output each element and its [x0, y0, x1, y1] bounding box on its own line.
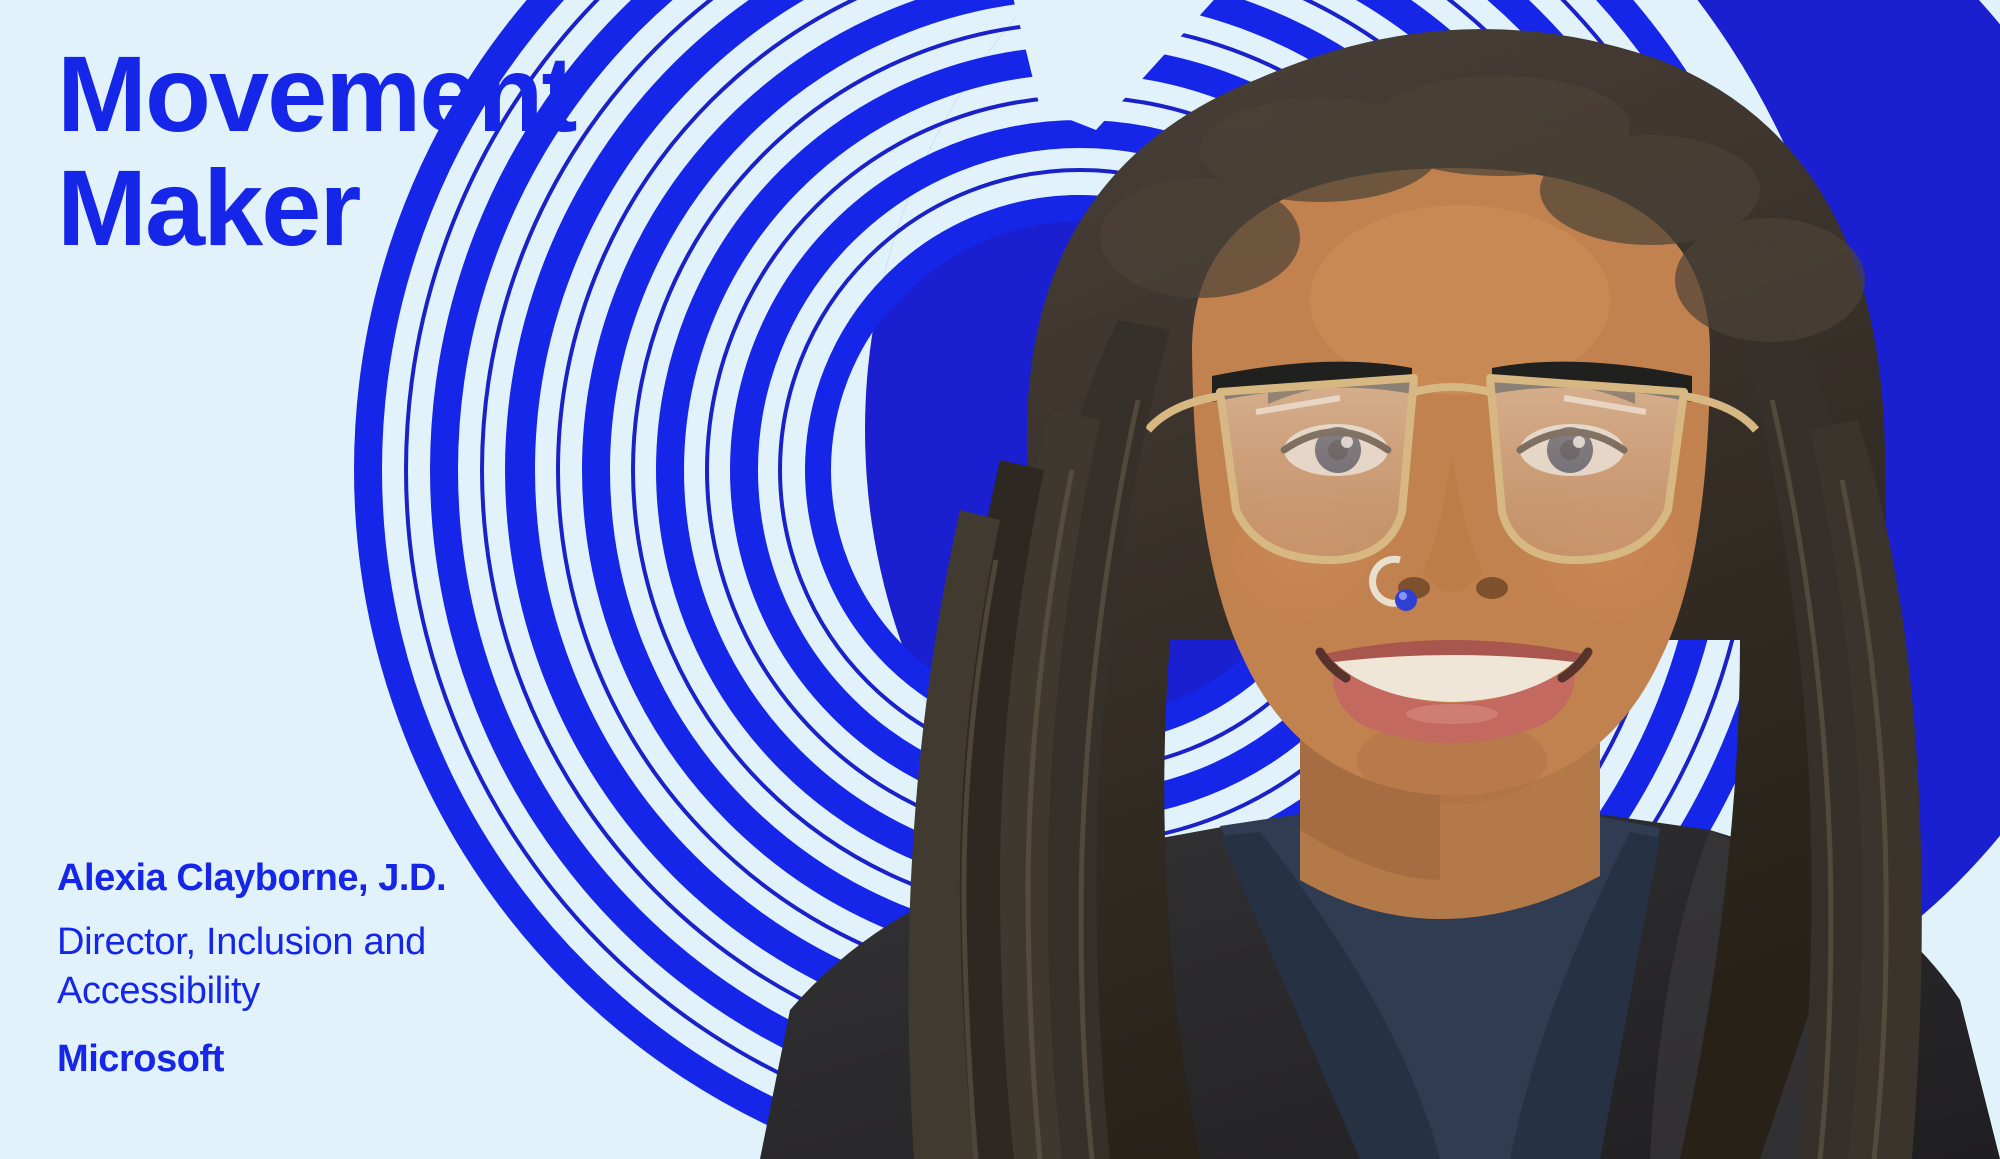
face [1192, 168, 1710, 804]
thick-ring-1 [818, 208, 1342, 732]
speaker-name: Alexia Clayborne, J.D. [57, 857, 697, 900]
headline-line-2: Maker [57, 154, 757, 262]
thick-ring-2 [744, 134, 1416, 806]
shirt-collar [1220, 790, 1660, 1159]
page-title: Movement Maker [57, 40, 757, 262]
thick-ring-3 [670, 60, 1490, 880]
speaker-title: Director, Inclusion and Accessibility [57, 918, 487, 1015]
mouth [1320, 640, 1588, 743]
cheek-left [1215, 485, 1385, 625]
speaker-portrait [700, 0, 2000, 1159]
hair-front-locs [908, 76, 1921, 1159]
thin-ring-2 [707, 97, 1453, 843]
blazer [760, 800, 2000, 1159]
arc-cap-1 [880, 208, 1080, 303]
arc-end-cuts [1004, 0, 1250, 130]
promo-card: Movement Maker Alexia Clayborne, J.D. Di… [0, 0, 2000, 1159]
speaker-info: Alexia Clayborne, J.D. Director, Inclusi… [57, 857, 697, 1081]
eye-left [1284, 424, 1388, 476]
nose-ring-icon [1373, 559, 1417, 611]
eyes [1284, 424, 1624, 476]
blue-disc [865, 0, 2000, 1070]
headline-line-1: Movement [57, 40, 757, 148]
thin-ring-3 [633, 23, 1527, 917]
thin-ring-1 [780, 170, 1380, 770]
hair-back [1027, 29, 1886, 1159]
neck [1300, 700, 1600, 919]
nose [1398, 452, 1508, 599]
eye-right [1520, 424, 1624, 476]
glasses-icon [1148, 362, 1756, 560]
cheek-right [1525, 485, 1695, 625]
eyebrows [1268, 378, 1635, 404]
speaker-organization: Microsoft [57, 1039, 697, 1081]
